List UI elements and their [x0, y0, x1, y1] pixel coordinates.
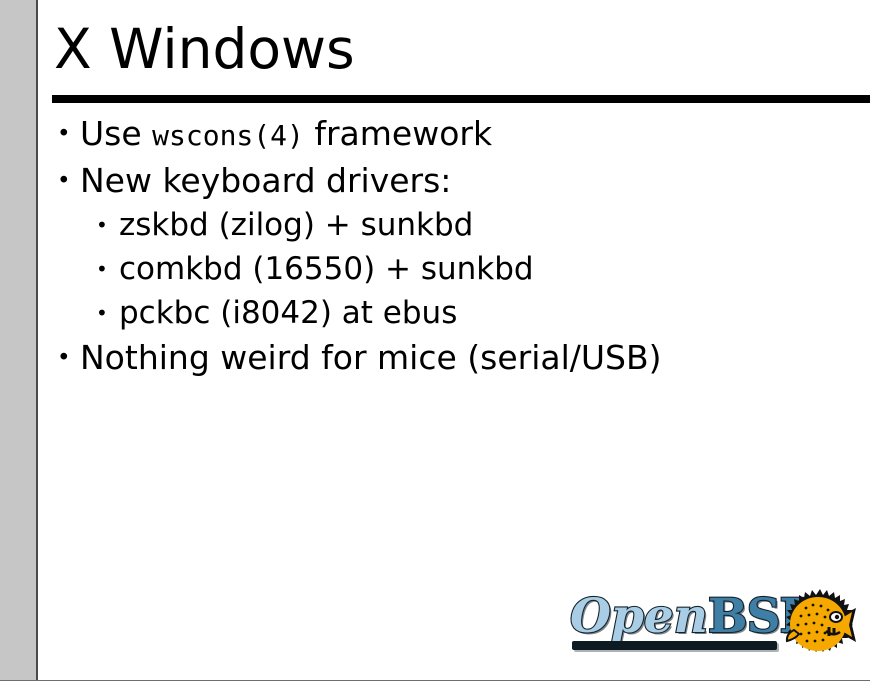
- bullet-text-run: zskbd (zilog) + sunkbd: [119, 207, 473, 243]
- bullet-marker-icon: •: [52, 112, 80, 156]
- left-band-divider: [36, 0, 38, 681]
- slide-title: X Windows: [54, 16, 355, 82]
- wordmark-open-text: Open: [570, 589, 708, 644]
- title-underline-rule: [52, 95, 870, 103]
- bullet-text-run: Nothing weird for mice (serial/USB): [80, 338, 661, 377]
- bullet-item-l2: •pckbc (i8042) at ebus: [92, 292, 852, 335]
- bullet-marker-icon: •: [52, 159, 80, 203]
- left-decorative-band: [0, 0, 36, 681]
- openbsd-logo: OpenBSD: [566, 586, 856, 664]
- bullet-item-l1: •New keyboard drivers:: [52, 159, 852, 203]
- bullet-text: Nothing weird for mice (serial/USB): [80, 336, 661, 380]
- bullet-text: pckbc (i8042) at ebus: [119, 292, 457, 335]
- bullet-marker-icon: •: [92, 248, 119, 291]
- bullet-item-l1: •Nothing weird for mice (serial/USB): [52, 336, 852, 380]
- wordmark-underbar: [572, 641, 777, 650]
- puffy-blowfish-icon: [782, 586, 856, 664]
- bullet-text-run: framework: [304, 114, 492, 153]
- bullet-marker-icon: •: [92, 204, 119, 247]
- bullet-text-run: Use: [80, 114, 152, 153]
- bullet-item-l2: •comkbd (16550) + sunkbd: [92, 248, 852, 291]
- bullet-marker-icon: •: [92, 292, 119, 335]
- manpage-ref: wscons(4): [152, 119, 304, 152]
- bullet-text: comkbd (16550) + sunkbd: [119, 248, 534, 291]
- bullet-text-run: New keyboard drivers:: [80, 161, 451, 200]
- bullet-text-run: pckbc (i8042) at ebus: [119, 295, 457, 331]
- bullet-text-run: comkbd (16550) + sunkbd: [119, 251, 534, 287]
- bullet-text: Use wscons(4) framework: [80, 112, 492, 158]
- slide-canvas: X Windows •Use wscons(4) framework•New k…: [0, 0, 870, 681]
- bullet-list: •Use wscons(4) framework•New keyboard dr…: [52, 112, 852, 381]
- bullet-item-l1: •Use wscons(4) framework: [52, 112, 852, 158]
- openbsd-wordmark: OpenBSD: [566, 592, 781, 650]
- bullet-text: zskbd (zilog) + sunkbd: [119, 204, 473, 247]
- bullet-item-l2: •zskbd (zilog) + sunkbd: [92, 204, 852, 247]
- bullet-text: New keyboard drivers:: [80, 159, 451, 203]
- bullet-marker-icon: •: [52, 336, 80, 380]
